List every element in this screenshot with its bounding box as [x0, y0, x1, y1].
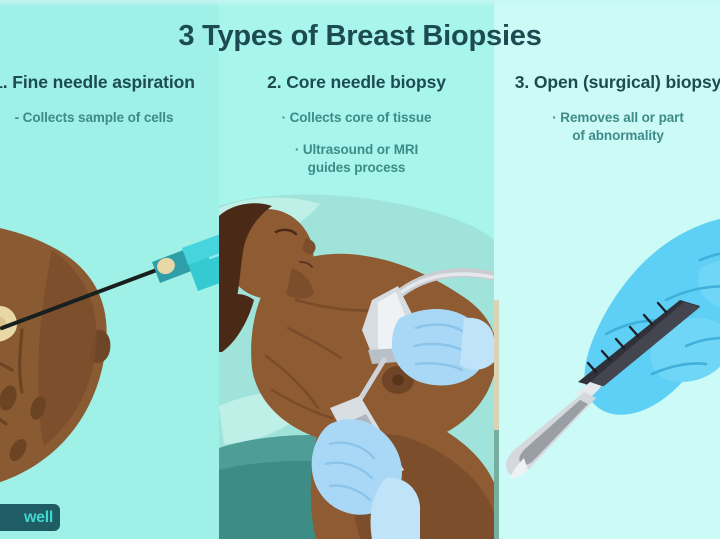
bullet-line-2: guides process [219, 159, 494, 177]
bullet-line-1: · Removes all or part [552, 110, 683, 125]
column-3-text: 3. Open (surgical) biopsy · Removes all … [494, 72, 720, 159]
column-2-heading: 2. Core needle biopsy [219, 72, 494, 93]
column-3-heading: 3. Open (surgical) biopsy [494, 72, 720, 93]
bullet-line-2: of abnormality [494, 127, 720, 145]
bullet-line-1: · Collects core of tissue [282, 110, 432, 125]
column-3-bullets: · Removes all or part of abnormality [494, 109, 720, 145]
infographic-canvas: 3 Types of Breast Biopsies 1. Fine needl… [0, 0, 720, 539]
column-2-text: 2. Core needle biopsy · Collects core of… [219, 72, 494, 190]
bullet-item: - Collects sample of cells [0, 109, 210, 127]
column-1-heading: 1. Fine needle aspiration [0, 72, 210, 93]
verywell-watermark-badge: well [0, 504, 60, 531]
bullet-item: · Collects core of tissue [219, 109, 494, 127]
bullet-item: · Removes all or part of abnormality [494, 109, 720, 145]
bullet-item: · Ultrasound or MRI guides process [219, 141, 494, 177]
bullet-line-1: - Collects sample of cells [15, 110, 174, 125]
bullet-line-1: · Ultrasound or MRI [295, 142, 418, 157]
page-title: 3 Types of Breast Biopsies [0, 20, 720, 53]
column-1-bullets: - Collects sample of cells [0, 109, 210, 127]
column-1-text: 1. Fine needle aspiration - Collects sam… [0, 72, 210, 141]
watermark-label: well [24, 509, 53, 527]
column-2-bullets: · Collects core of tissue · Ultrasound o… [219, 109, 494, 176]
